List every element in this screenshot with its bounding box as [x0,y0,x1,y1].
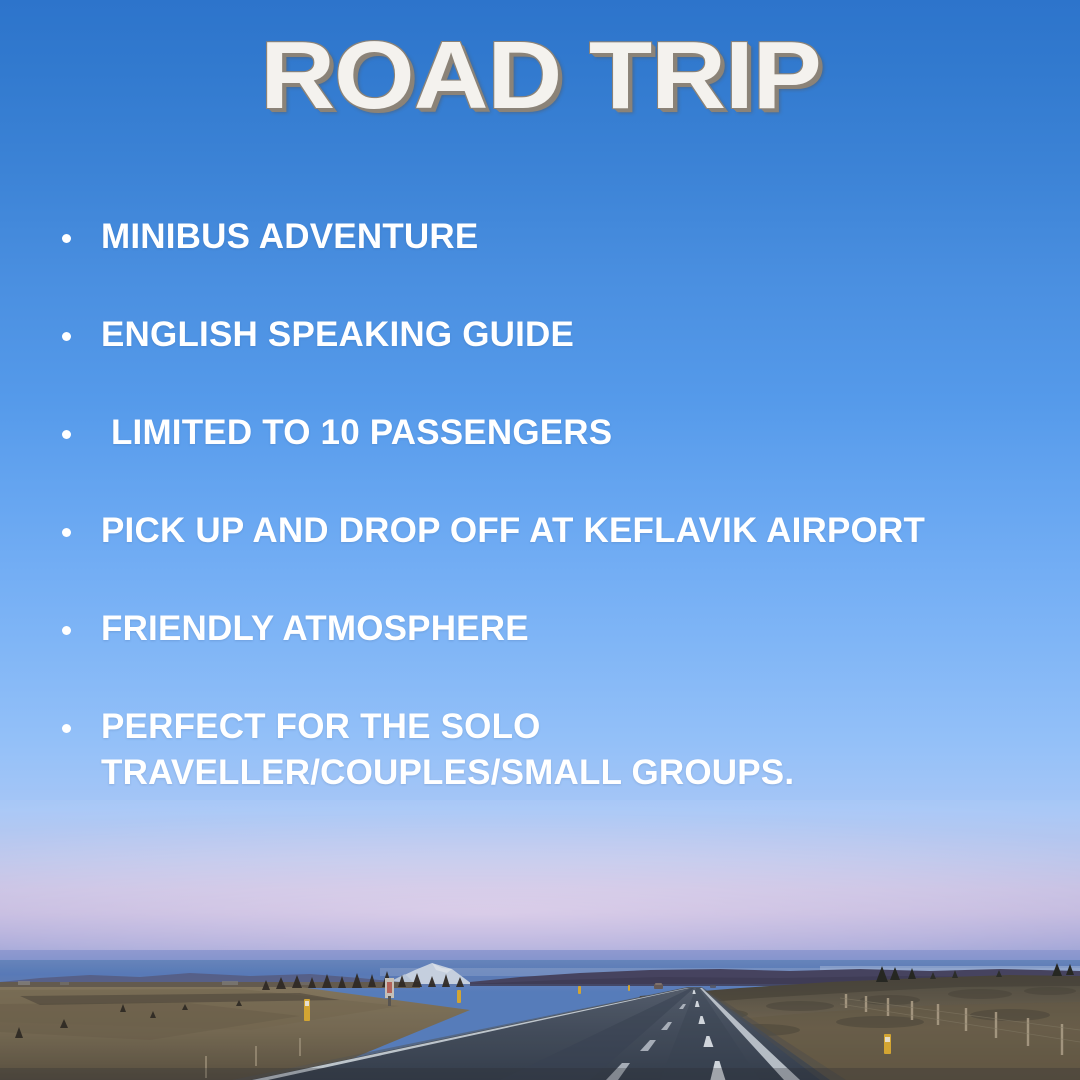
page-title: ROAD TRIP [260,28,821,124]
list-item-label: ENGLISH SPEAKING GUIDE [101,312,1047,358]
list-item: PERFECT FOR THE SOLO TRAVELLER/COUPLES/S… [62,704,1047,796]
list-item-label: MINIBUS ADVENTURE [101,214,1047,260]
bullet-dot-icon [62,234,71,243]
bullet-dot-icon [62,626,71,635]
title-container: ROAD TRIP [0,28,1080,124]
list-item-label: LIMITED TO 10 PASSENGERS [101,410,1047,456]
list-item: ENGLISH SPEAKING GUIDE [62,312,1047,358]
list-item: FRIENDLY ATMOSPHERE [62,606,1047,652]
bullet-dot-icon [62,724,71,733]
landscape-illustration [0,960,1080,1080]
list-item: PICK UP AND DROP OFF AT KEFLAVIK AIRPORT [62,508,1047,554]
list-item-label: FRIENDLY ATMOSPHERE [101,606,1047,652]
bullet-dot-icon [62,332,71,341]
list-item: MINIBUS ADVENTURE [62,214,1047,260]
bullet-dot-icon [62,528,71,537]
list-item-label: PICK UP AND DROP OFF AT KEFLAVIK AIRPORT [101,508,1047,554]
list-item: LIMITED TO 10 PASSENGERS [62,410,1047,456]
feature-bullet-list: MINIBUS ADVENTURE ENGLISH SPEAKING GUIDE… [62,214,1047,796]
bullet-dot-icon [62,430,71,439]
poster-canvas: ROAD TRIP MINIBUS ADVENTURE ENGLISH SPEA… [0,0,1080,1080]
road-landscape-photo [0,960,1080,1080]
list-item-label: PERFECT FOR THE SOLO TRAVELLER/COUPLES/S… [101,704,1047,796]
